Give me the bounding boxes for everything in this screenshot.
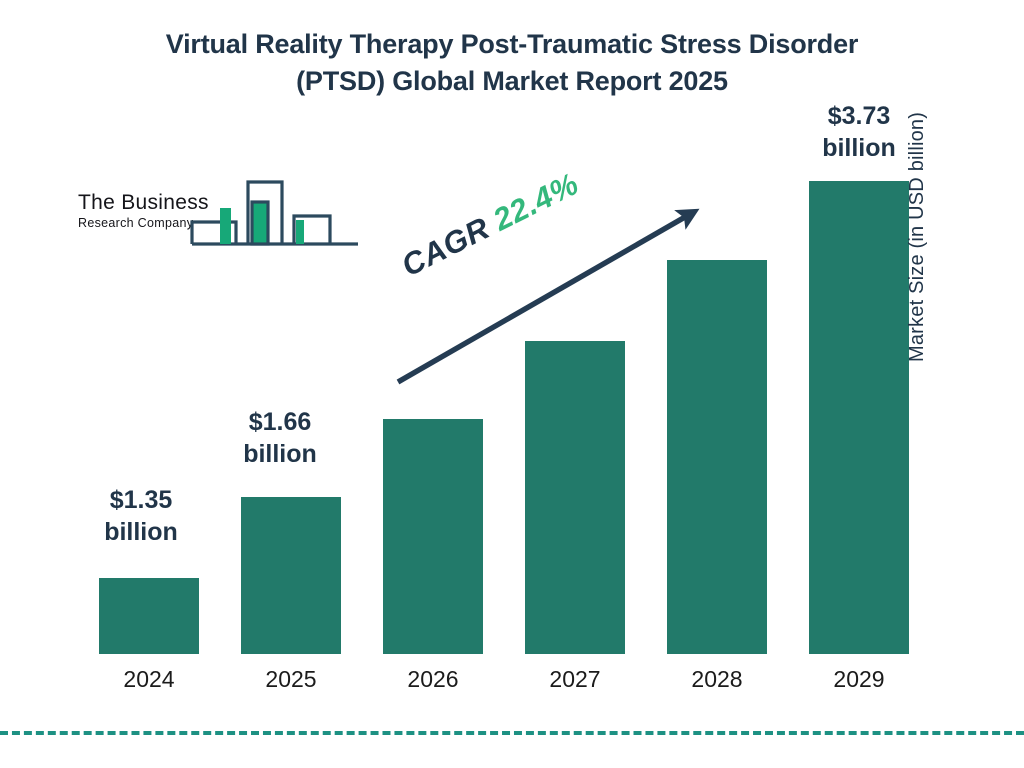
chart-canvas: Virtual Reality Therapy Post-Traumatic S…	[0, 0, 1024, 768]
footer-divider	[0, 731, 1024, 735]
y-axis-title: Market Size (in USD billion)	[906, 42, 929, 362]
bar-chart-plot: $1.35 billion $1.66 billion $3.73 billio…	[0, 0, 1024, 768]
growth-trend-arrow-icon	[0, 0, 1024, 768]
